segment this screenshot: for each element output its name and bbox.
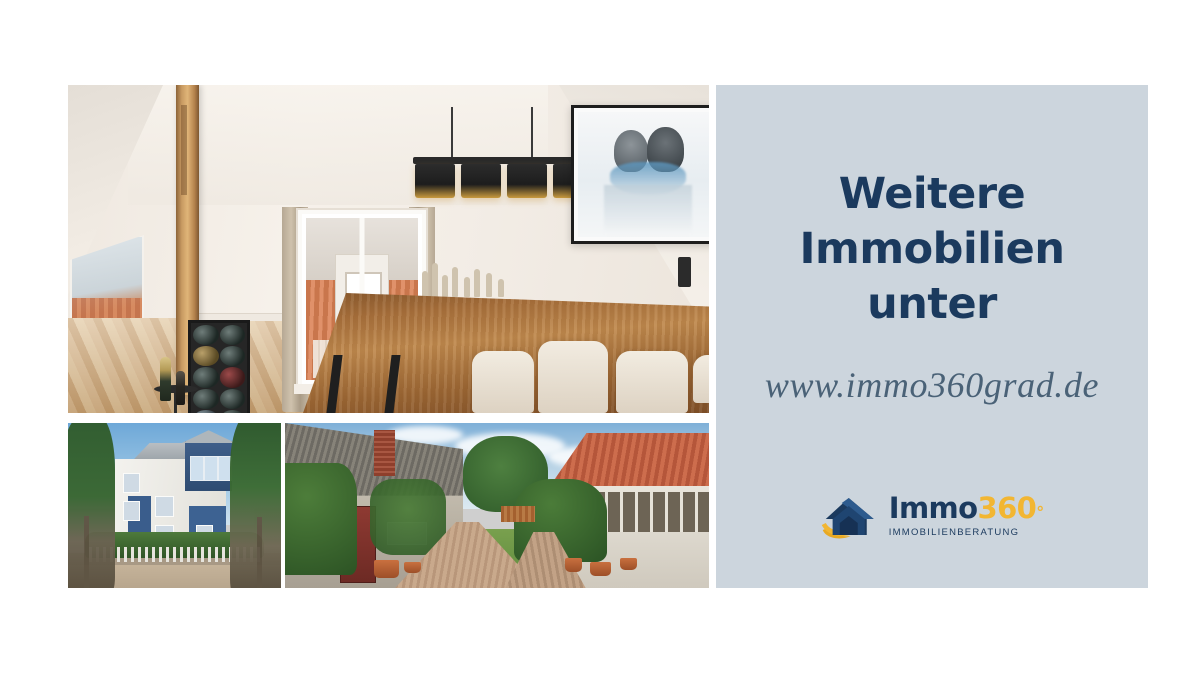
brick-chimney (374, 430, 395, 476)
photo-attic-dining-room (68, 85, 709, 413)
wall-speaker-right (678, 257, 691, 287)
logo-wordmark: Immo 360 ° IMMOBILIENBERATUNG (889, 494, 1045, 538)
photo-white-villa (68, 423, 281, 588)
bottle-collection (420, 261, 515, 297)
logo-degree-symbol: ° (1036, 505, 1044, 521)
house-swoosh-icon (820, 492, 878, 540)
page-title: Weitere Immobilien unter (800, 167, 1065, 332)
dining-chair (538, 341, 608, 413)
villa-tower (185, 441, 232, 491)
photo-courtyard-garden (285, 423, 709, 588)
headline-line-2: Immobilien (800, 222, 1065, 277)
photo-collage (68, 85, 709, 588)
company-logo[interactable]: Immo 360 ° IMMOBILIENBERATUNG (820, 492, 1045, 540)
logo-name-primary: Immo (889, 494, 978, 523)
dining-chair (616, 351, 688, 413)
logo-name-accent: 360 (978, 494, 1037, 523)
ivy-left (285, 463, 357, 575)
pendant-lamp (413, 107, 593, 207)
tree-left (68, 423, 115, 588)
framed-artwork (571, 105, 709, 244)
website-url[interactable]: www.immo360grad.de (765, 364, 1099, 406)
wine-bottle (176, 371, 185, 405)
tree-right (230, 423, 281, 588)
dining-chair (472, 351, 534, 413)
headline-line-1: Weitere (800, 167, 1065, 222)
garden-gate (501, 506, 535, 523)
dining-chair (693, 355, 709, 403)
ivy-climbing (370, 479, 446, 555)
logo-tagline: IMMOBILIENBERATUNG (889, 528, 1045, 538)
slide-canvas: Weitere Immobilien unter www.immo360grad… (0, 0, 1200, 675)
headline-line-3: unter (800, 277, 1065, 332)
info-panel: Weitere Immobilien unter www.immo360grad… (716, 85, 1148, 588)
champagne-bottle (160, 357, 171, 401)
